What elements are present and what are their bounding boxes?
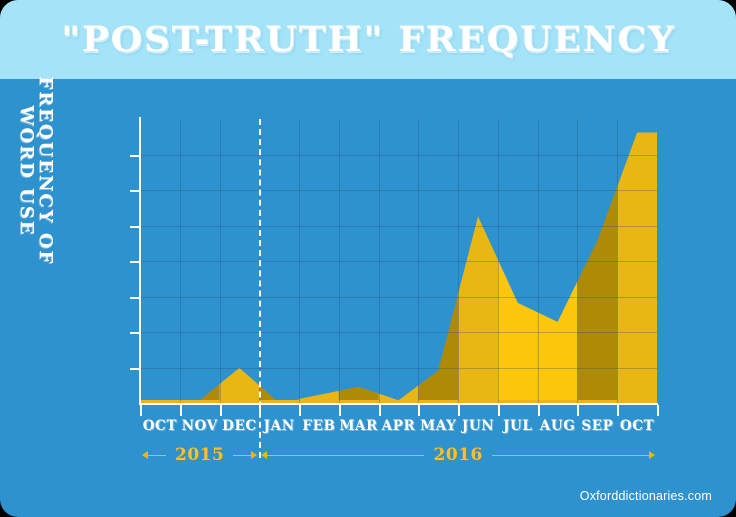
year-bracket: 2016 bbox=[261, 444, 655, 466]
arrow-right-icon bbox=[251, 451, 257, 459]
arrow-right-icon bbox=[649, 451, 655, 459]
x-axis-month-label: JUN bbox=[462, 418, 494, 434]
chart-plot-area bbox=[140, 119, 657, 403]
x-axis-month-label: DEC bbox=[222, 418, 257, 434]
x-axis-tick bbox=[577, 405, 579, 416]
grid-line-horizontal bbox=[140, 332, 657, 333]
bracket-line bbox=[492, 455, 649, 456]
x-axis-tick bbox=[657, 405, 659, 416]
area-band bbox=[458, 216, 498, 403]
x-axis-tick bbox=[180, 405, 182, 416]
area-band bbox=[418, 293, 458, 403]
x-axis-tick bbox=[299, 405, 301, 416]
y-axis-tick bbox=[130, 332, 141, 334]
y-axis-label: FREQUENCY OF WORD USE bbox=[16, 56, 54, 286]
x-axis-tick bbox=[418, 405, 420, 416]
x-axis-month-label: SEP bbox=[581, 418, 613, 434]
y-axis-tick bbox=[130, 226, 141, 228]
x-axis-month-labels: OCTNOVDECJANFEBMARAPRMAYJUNJULAUGSEPOCT bbox=[140, 418, 657, 438]
x-axis-tick bbox=[379, 405, 381, 416]
header-band: "POST-TRUTH" FREQUENCY bbox=[0, 0, 736, 79]
grid-line-horizontal bbox=[140, 226, 657, 227]
area-band bbox=[577, 187, 617, 403]
y-axis-tick bbox=[130, 155, 141, 157]
year-label: 2016 bbox=[424, 445, 491, 465]
grid-line-horizontal bbox=[140, 297, 657, 298]
bracket-line bbox=[148, 455, 166, 456]
y-axis-label-line1: FREQUENCY OF bbox=[35, 56, 54, 286]
y-axis-tick bbox=[130, 261, 141, 263]
y-axis-tick bbox=[130, 297, 141, 299]
x-axis-month-label: APR bbox=[382, 418, 416, 434]
year-bracket: 2015 bbox=[142, 444, 257, 466]
x-axis-tick bbox=[458, 405, 460, 416]
x-axis-month-label: AUG bbox=[540, 418, 576, 434]
area-band bbox=[617, 133, 657, 403]
x-axis-month-label: OCT bbox=[620, 418, 654, 434]
x-axis-tick bbox=[538, 405, 540, 416]
source-credit: Oxforddictionaries.com bbox=[580, 489, 712, 503]
area-band bbox=[220, 368, 260, 403]
x-axis-month-label: JAN bbox=[264, 418, 295, 434]
x-axis-tick bbox=[220, 405, 222, 416]
page-title: "POST-TRUTH" FREQUENCY bbox=[61, 19, 675, 60]
infographic-card: "POST-TRUTH" FREQUENCY FREQUENCY OF WORD… bbox=[0, 0, 736, 517]
y-axis-label-line2: WORD USE bbox=[16, 56, 35, 286]
x-axis-month-label: NOV bbox=[182, 418, 218, 434]
y-axis-tick bbox=[130, 368, 141, 370]
x-axis-tick bbox=[339, 405, 341, 416]
y-axis-tick bbox=[130, 190, 141, 192]
grid-line-horizontal bbox=[140, 155, 657, 156]
x-axis-tick bbox=[617, 405, 619, 416]
year-divider-dashed-line bbox=[259, 119, 261, 458]
bracket-line bbox=[233, 455, 251, 456]
x-axis-line bbox=[139, 403, 658, 405]
bracket-line bbox=[267, 455, 424, 456]
x-axis-month-label: MAR bbox=[340, 418, 378, 434]
x-axis-month-label: OCT bbox=[143, 418, 177, 434]
x-axis-tick bbox=[498, 405, 500, 416]
x-axis-month-label: JUL bbox=[503, 418, 532, 434]
x-axis-tick bbox=[140, 405, 142, 416]
grid-line-horizontal bbox=[140, 261, 657, 262]
x-axis-month-label: FEB bbox=[302, 418, 335, 434]
year-label: 2015 bbox=[166, 445, 233, 465]
area-band bbox=[538, 281, 578, 403]
x-axis-month-label: MAY bbox=[420, 418, 456, 434]
grid-line-horizontal bbox=[140, 190, 657, 191]
grid-line-horizontal bbox=[140, 368, 657, 369]
